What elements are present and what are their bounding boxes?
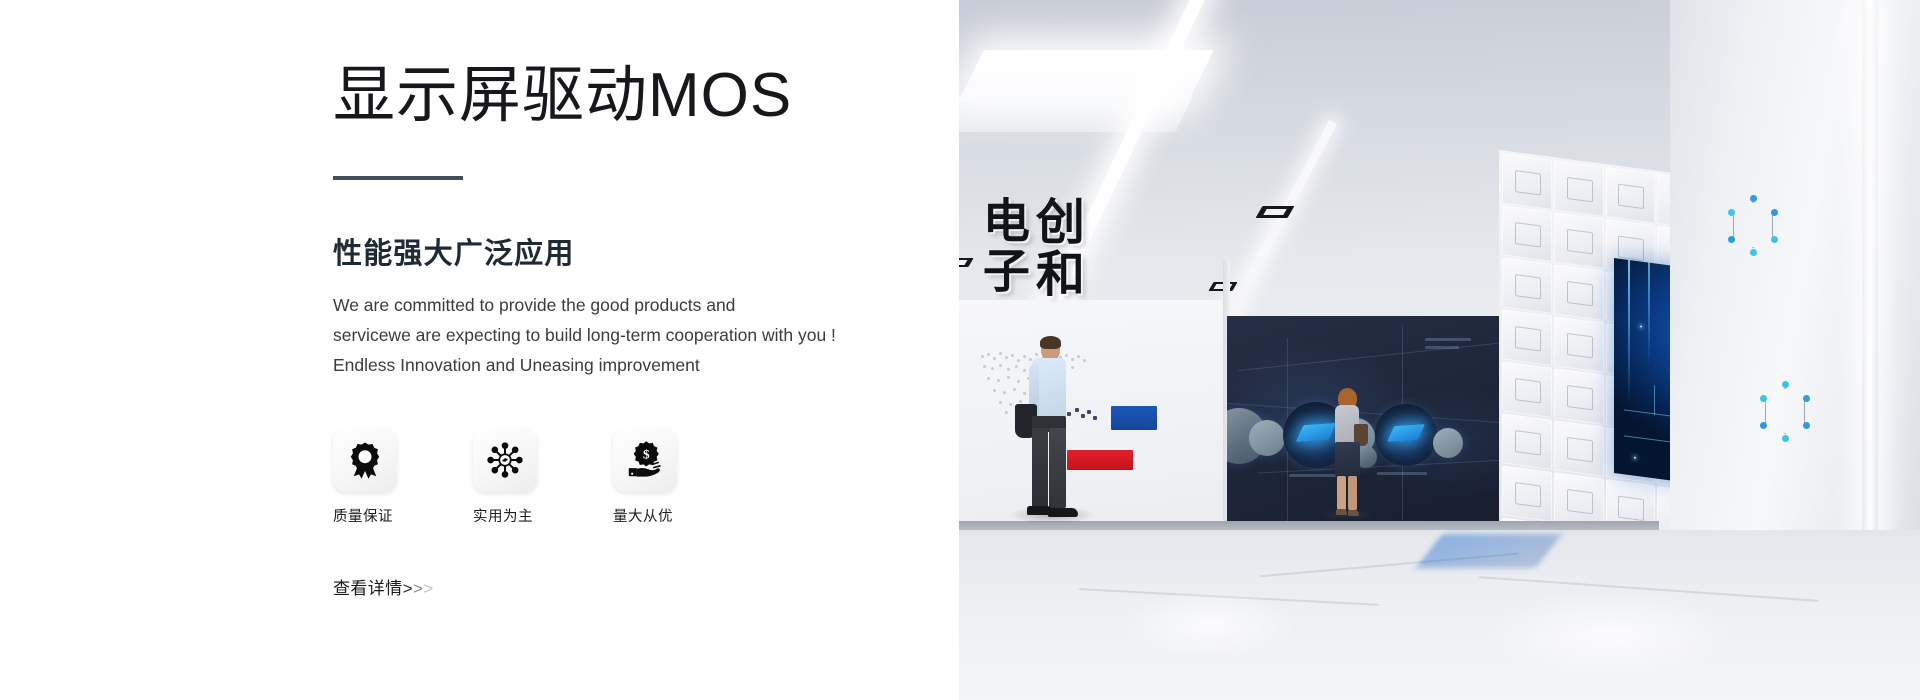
- view-details-label: 查看详情: [333, 579, 403, 598]
- showroom-photo-panel: 5947 C18A 电子 创和: [959, 0, 1920, 700]
- feature-label: 实用为主: [473, 492, 557, 526]
- feature-list: 质量保证: [333, 380, 933, 526]
- blue-wall-sign: [1111, 406, 1157, 430]
- description-paragraph: We are committed to provide the good pro…: [333, 272, 873, 380]
- exhibit-chip-medallion: [1375, 404, 1437, 466]
- description-line-2: servicewe are expecting to build long-te…: [333, 320, 873, 350]
- wall-brand-sign: 电子 创和: [977, 196, 1081, 300]
- svg-text:$: $: [643, 447, 650, 462]
- feature-label: 量大从优: [613, 492, 697, 526]
- exhibit-medallion: [1249, 420, 1285, 456]
- chevron-3-icon: >: [423, 579, 433, 598]
- feature-label: 质量保证: [333, 492, 417, 526]
- chevron-2-icon: >: [413, 579, 423, 598]
- brand-sign-column-left: 电子: [977, 196, 1026, 300]
- view-details-link[interactable]: 查看详情>>>: [333, 526, 434, 599]
- page-title: 显示屏驱动MOS: [333, 60, 933, 131]
- brand-sign-column-right: 创和: [1030, 196, 1081, 300]
- description-line-1: We are committed to provide the good pro…: [333, 290, 873, 320]
- hand-money-icon: $: [613, 428, 677, 492]
- feature-item-quality[interactable]: 质量保证: [333, 428, 417, 526]
- award-medal-icon: [333, 428, 397, 492]
- showroom-interior-photo: 5947 C18A 电子 创和: [959, 0, 1920, 700]
- chevron-1-icon: >: [403, 579, 413, 598]
- feature-item-practical[interactable]: 实用为主: [473, 428, 557, 526]
- red-wall-sign: [1067, 450, 1133, 470]
- hex-molecule-icon: [1727, 196, 1779, 254]
- text-content: 显示屏驱动MOS 性能强大广泛应用 We are committed to pr…: [333, 60, 933, 599]
- description-line-3: Endless Innovation and Uneasing improvem…: [333, 350, 873, 380]
- hex-molecule-icon: [1759, 382, 1811, 440]
- subtitle: 性能强大广泛应用: [333, 180, 933, 272]
- floor-reflection: [1119, 590, 1299, 660]
- network-hub-icon: [473, 428, 537, 492]
- floor-reflection: [1479, 590, 1739, 680]
- exhibit-medallion: [1433, 428, 1463, 458]
- feature-item-bulk-discount[interactable]: $ 量大从优: [613, 428, 697, 526]
- text-panel: 显示屏驱动MOS 性能强大广泛应用 We are committed to pr…: [0, 0, 959, 700]
- wall-signage-glyphs: [1061, 406, 1105, 428]
- promo-banner: 显示屏驱动MOS 性能强大广泛应用 We are committed to pr…: [0, 0, 1920, 700]
